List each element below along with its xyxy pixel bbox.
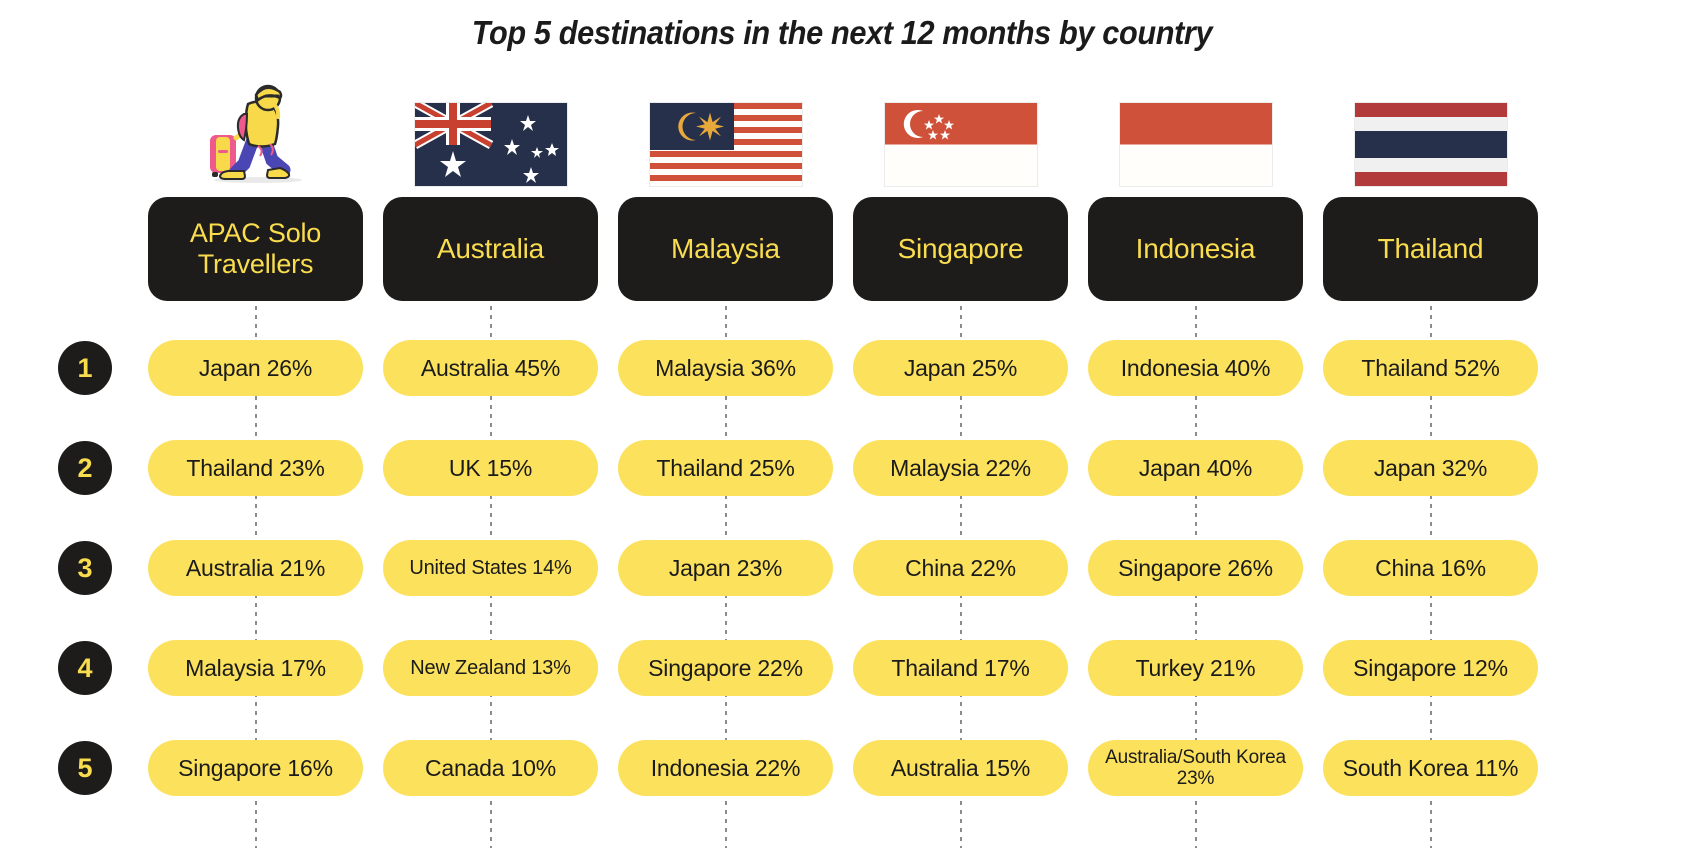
column-header-singapore: Singapore [853,197,1068,301]
cell-indonesia-3: Singapore 26% [1088,540,1303,596]
solo-traveller-illustration [196,80,316,186]
column-icon-thailand [1323,78,1538,186]
column-header-indonesia: Indonesia [1088,197,1303,301]
rank-badge-2: 2 [58,441,112,495]
rank-badge-3: 3 [58,541,112,595]
column-icon-indonesia [1088,78,1303,186]
cell-australia-5: Canada 10% [383,740,598,796]
cell-indonesia-1: Indonesia 40% [1088,340,1303,396]
destinations-table: 1 2 3 4 5 [0,78,1684,864]
cell-apac-2: Thailand 23% [148,440,363,496]
cell-malaysia-4: Singapore 22% [618,640,833,696]
cell-malaysia-3: Japan 23% [618,540,833,596]
column-icon-apac-solo-travellers [148,78,363,186]
cell-apac-3: Australia 21% [148,540,363,596]
cell-thailand-4: Singapore 12% [1323,640,1538,696]
cell-australia-3: United States 14% [383,540,598,596]
rank-badge-5: 5 [58,741,112,795]
cell-malaysia-5: Indonesia 22% [618,740,833,796]
cell-singapore-2: Malaysia 22% [853,440,1068,496]
cell-australia-2: UK 15% [383,440,598,496]
flag-malaysia-icon [650,103,802,186]
cell-indonesia-5: Australia/South Korea 23% [1088,740,1303,796]
cell-australia-4: New Zealand 13% [383,640,598,696]
cell-indonesia-2: Japan 40% [1088,440,1303,496]
rank-badge-1: 1 [58,341,112,395]
cell-australia-1: Australia 45% [383,340,598,396]
cell-thailand-5: South Korea 11% [1323,740,1538,796]
cell-indonesia-4: Turkey 21% [1088,640,1303,696]
cell-apac-5: Singapore 16% [148,740,363,796]
flag-indonesia-icon [1120,103,1272,186]
cell-singapore-4: Thailand 17% [853,640,1068,696]
column-header-thailand: Thailand [1323,197,1538,301]
column-header-australia: Australia [383,197,598,301]
column-icon-malaysia [618,78,833,186]
column-header-apac-solo-travellers: APAC Solo Travellers [148,197,363,301]
column-header-malaysia: Malaysia [618,197,833,301]
cell-thailand-3: China 16% [1323,540,1538,596]
cell-malaysia-2: Thailand 25% [618,440,833,496]
cell-singapore-1: Japan 25% [853,340,1068,396]
cell-thailand-2: Japan 32% [1323,440,1538,496]
flag-australia-icon [415,103,567,186]
flag-thailand-icon [1355,103,1507,186]
rank-badge-4: 4 [58,641,112,695]
cell-singapore-5: Australia 15% [853,740,1068,796]
cell-thailand-1: Thailand 52% [1323,340,1538,396]
page-title: Top 5 destinations in the next 12 months… [59,14,1625,52]
cell-apac-4: Malaysia 17% [148,640,363,696]
cell-singapore-3: China 22% [853,540,1068,596]
flag-singapore-icon [885,103,1037,186]
column-icon-australia [383,78,598,186]
cell-malaysia-1: Malaysia 36% [618,340,833,396]
rank-column: 1 2 3 4 5 [58,78,128,864]
cell-apac-1: Japan 26% [148,340,363,396]
column-icon-singapore [853,78,1068,186]
